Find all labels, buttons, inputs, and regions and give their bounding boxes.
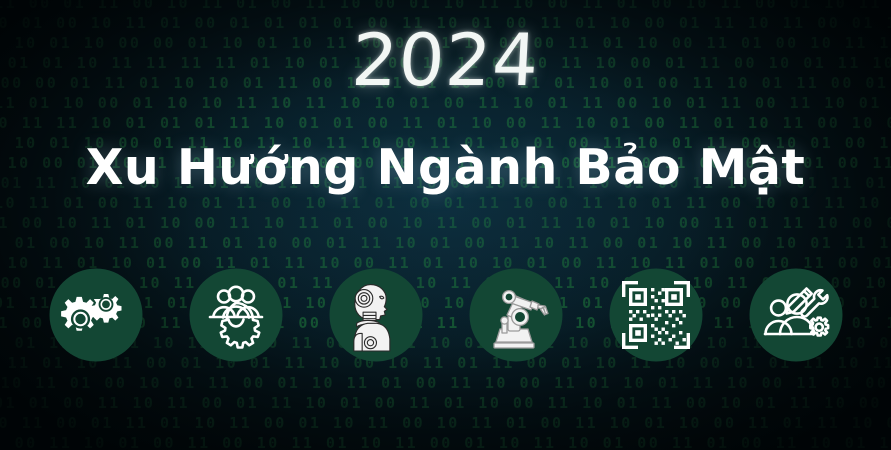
qr-code-icon	[620, 279, 692, 351]
icon-item-gears	[47, 266, 144, 363]
icon-item-robotic-arm	[467, 266, 564, 363]
gears-icon	[60, 279, 132, 351]
banner-content: 2024 Xu Hướng Ngành Bảo Mật	[0, 0, 891, 450]
icon-item-tech-support	[747, 266, 844, 363]
year-text: 2024	[0, 24, 891, 96]
robotic-arm-icon	[480, 279, 552, 351]
page-title: Xu Hướng Ngành Bảo Mật	[0, 140, 891, 196]
icon-item-team-gear	[187, 266, 284, 363]
icon-strip	[0, 262, 891, 367]
tech-support-icon	[760, 279, 832, 351]
icon-item-qr-code	[607, 266, 704, 363]
humanoid-robot-icon	[340, 279, 412, 351]
icon-item-humanoid-robot	[327, 266, 424, 363]
banner-graphic: 11 00 01 11 00 10 11 01 00 11 10 00 01 1…	[0, 0, 891, 450]
team-gear-icon	[200, 279, 272, 351]
